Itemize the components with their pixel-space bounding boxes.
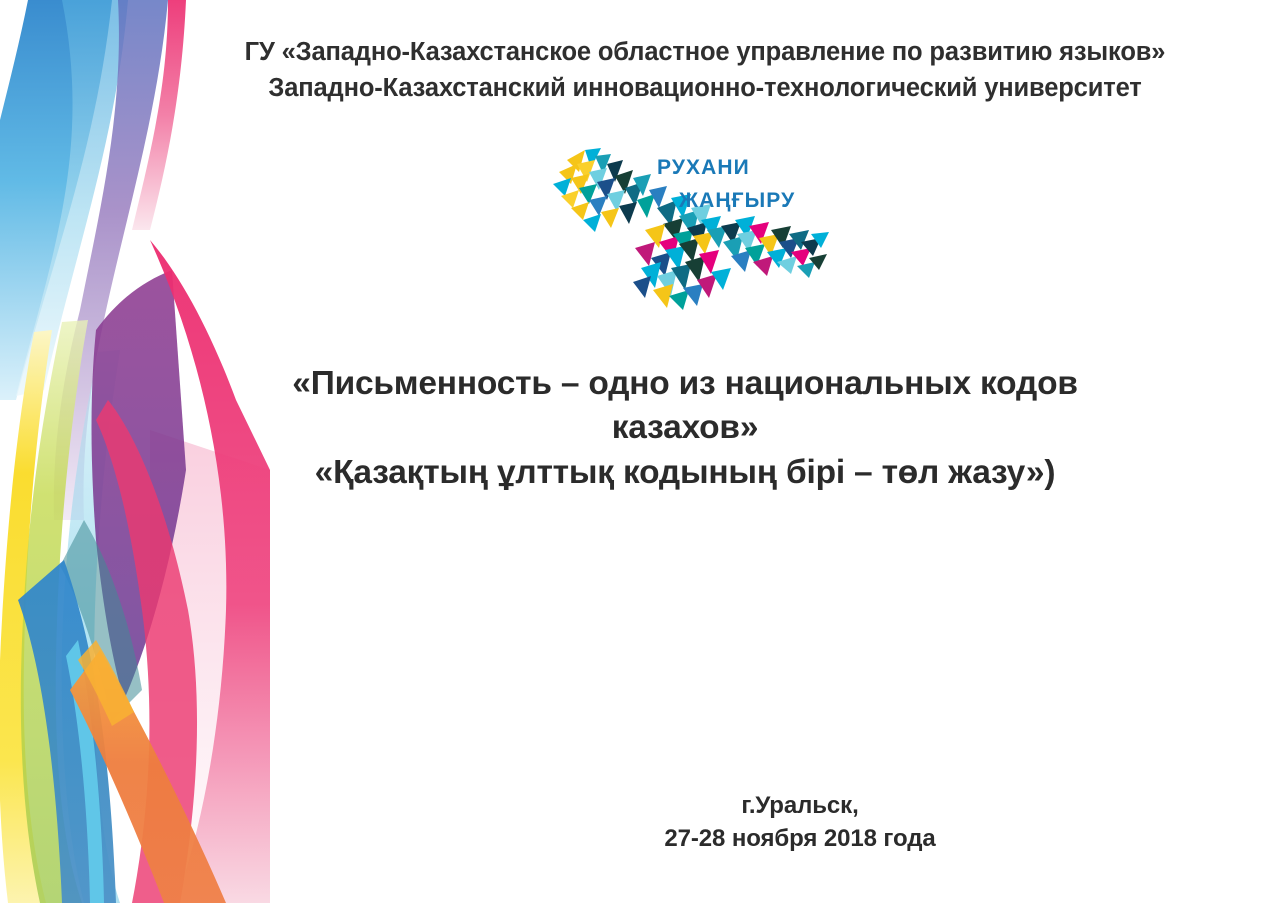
logo-word-zhangyru: ЖАҢҒЫРУ [653, 185, 833, 218]
header-line-university: Западно-Казахстанский инновационно-техно… [150, 70, 1260, 106]
title-line-russian-2: казахов» [190, 406, 1180, 450]
slide-footer: г.Уральск, 27-28 ноября 2018 года [420, 790, 1180, 856]
ruhani-zhangyru-logo: РУХАНИ ЖАҢҒЫРУ [545, 138, 835, 313]
slide-title: «Письменность – одно из национальных код… [190, 362, 1180, 495]
title-line-russian-1: «Письменность – одно из национальных код… [190, 362, 1180, 406]
title-line-kazakh: «Қазақтың ұлттық кодының бірі – төл жазу… [190, 451, 1180, 495]
header-line-organization: ГУ «Западно-Казахстанское областное упра… [150, 34, 1260, 70]
footer-city: г.Уральск, [420, 790, 1180, 823]
footer-dates: 27-28 ноября 2018 года [420, 823, 1180, 856]
presentation-slide: ГУ «Западно-Казахстанское областное упра… [0, 0, 1280, 903]
slide-header: ГУ «Западно-Казахстанское областное упра… [150, 34, 1260, 106]
logo-wordmark: РУХАНИ ЖАҢҒЫРУ [653, 152, 833, 217]
logo-word-ruhani: РУХАНИ [653, 152, 833, 185]
